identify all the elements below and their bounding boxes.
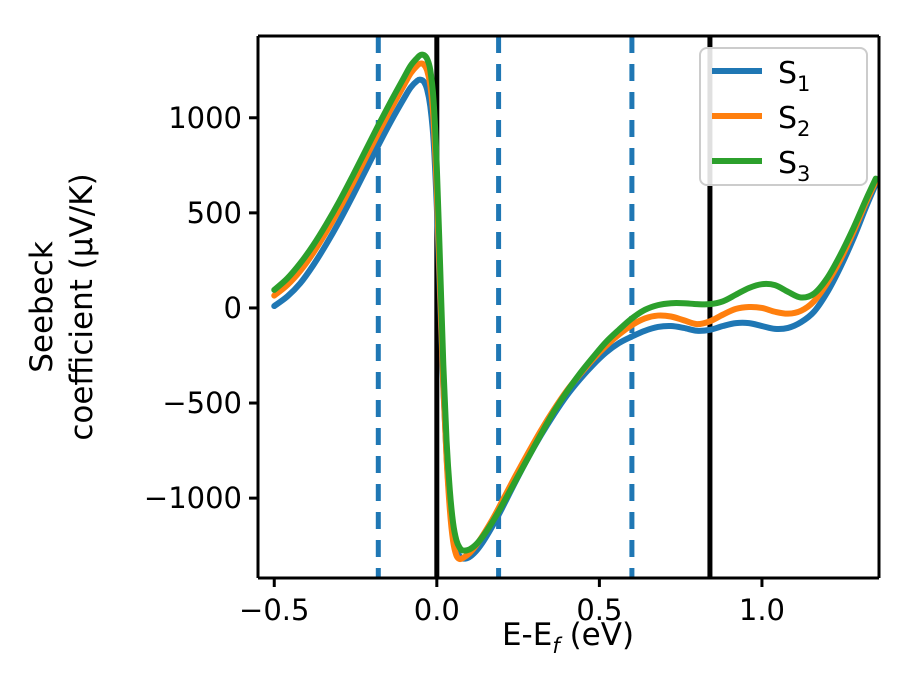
legend: S1 S2 S3: [700, 48, 867, 186]
y-tick-label-neg500: −500: [162, 386, 242, 420]
x-tick-label-10: 1.0: [739, 593, 785, 627]
y-tick-label-500: 500: [187, 196, 242, 230]
y-axis-label-line1: Seebeck: [24, 241, 60, 373]
x-axis-label-main: E-E: [502, 617, 552, 653]
x-axis-label-units: (eV): [560, 617, 634, 653]
y-tick-label-neg1000: −1000: [144, 481, 242, 515]
seebeck-coefficient-chart: −0.5 0.0 0.5 1.0 1000 500 0 −500 −1000 E…: [0, 0, 900, 700]
x-axis-label: E-Ef (eV): [502, 617, 634, 658]
y-axis-label-line2: coefficient (μV/K): [64, 173, 100, 440]
y-tick-label-1000: 1000: [168, 101, 242, 135]
x-tick-label-neg05: −0.5: [239, 593, 309, 627]
y-axis-label: Seebeck coefficient (μV/K): [24, 173, 100, 440]
figure-canvas: −0.5 0.0 0.5 1.0 1000 500 0 −500 −1000 E…: [0, 0, 900, 700]
x-tick-label-00: 0.0: [414, 593, 460, 627]
y-tick-label-0: 0: [224, 291, 242, 325]
